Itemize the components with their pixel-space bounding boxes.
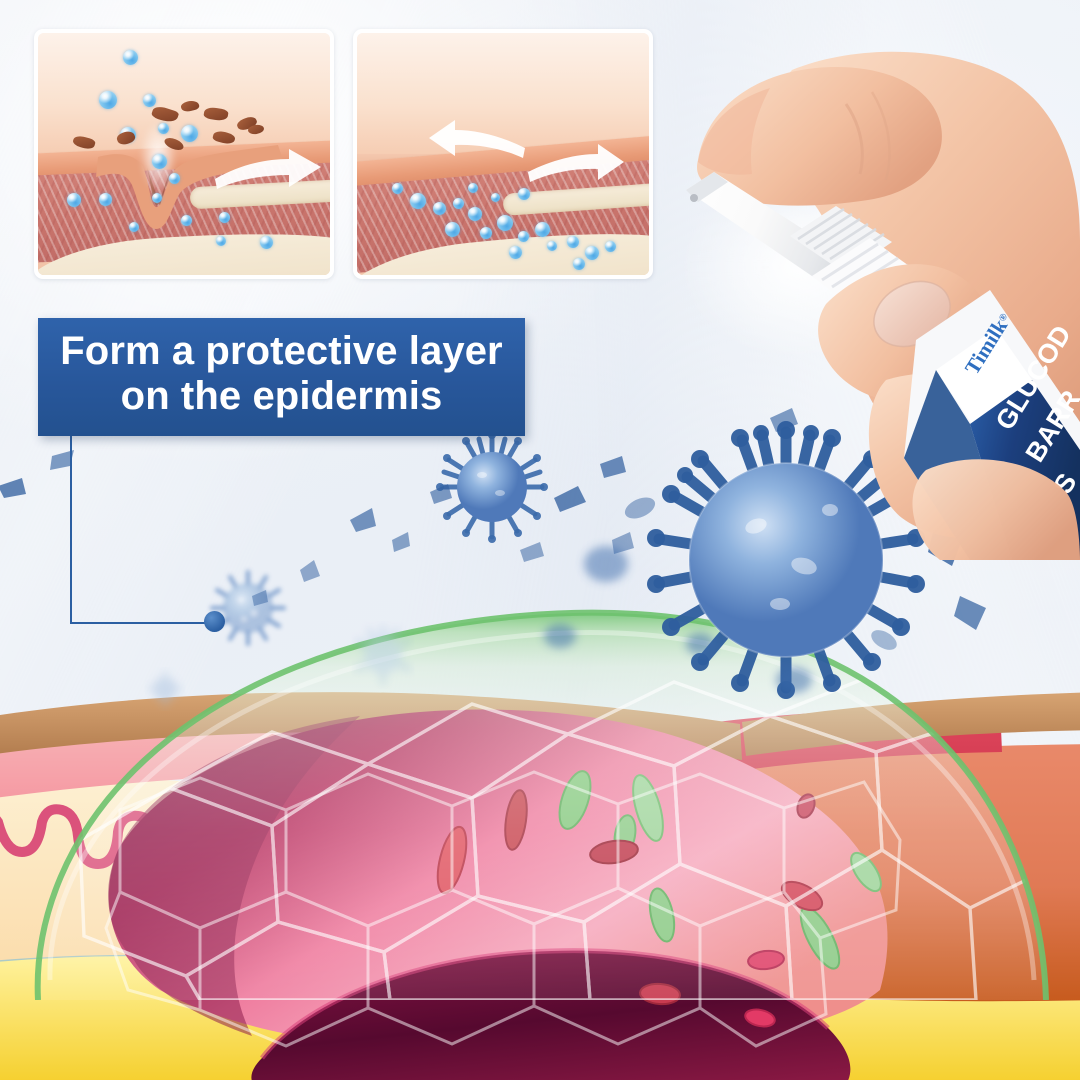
headline-line-1: Form a protective layer [52,329,511,374]
callout-connector-line [70,434,217,624]
virus-tiny [148,671,182,707]
virus-small-left [212,572,284,644]
promo-infographic: Timilk® GLUCOD BARR S [0,0,1080,1080]
callout-endpoint-dot [204,611,225,632]
headline-banner: Form a protective layer on the epidermis [38,318,525,436]
virus-faint-dome [357,627,409,683]
virus-medium [436,431,548,543]
hand-holding-spray-bottle: Timilk® GLUCOD BARR S [640,40,1080,560]
inset-panel-sealed [353,29,653,279]
headline-line-2: on the epidermis [52,374,511,419]
inset-panel-absorption [34,29,334,279]
